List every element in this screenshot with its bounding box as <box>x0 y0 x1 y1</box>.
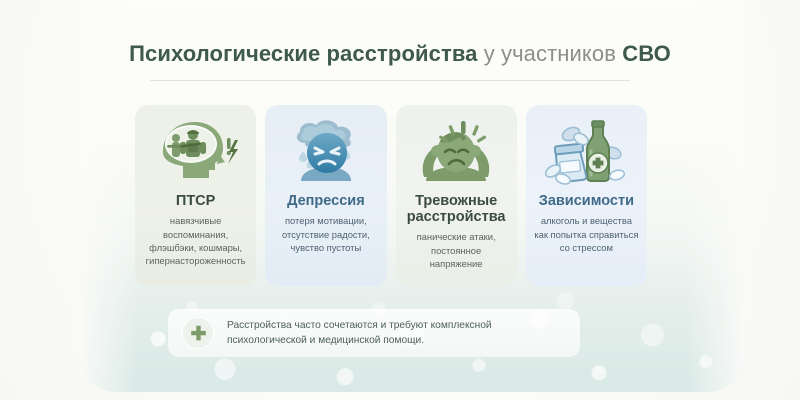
disorder-card-title: Зависимости <box>539 193 634 209</box>
page-title-strong-secondary: СВО <box>622 41 671 66</box>
title-divider <box>150 80 630 81</box>
medical-cross-icon <box>182 317 214 349</box>
stressed-head-hands-icon <box>402 115 511 187</box>
footnote-banner: Расстройства часто сочетаются и требуют … <box>168 309 580 357</box>
disorder-card-description: потеря мотивации, отсутствие радости, чу… <box>271 214 380 254</box>
disorder-card-ptsr[interactable]: ПТСР навязчивые воспоминания, флэшбэки, … <box>135 105 256 286</box>
footnote-text: Расстройства часто сочетаются и требуют … <box>227 318 492 349</box>
disorder-card-list: ПТСР навязчивые воспоминания, флэшбэки, … <box>135 105 647 286</box>
disorder-card-title: Тревожные расстройства <box>407 193 506 225</box>
sad-face-rain-cloud-icon <box>271 115 380 187</box>
disorder-card-description: алкоголь и вещества как попытка справить… <box>532 214 641 254</box>
head-soldier-icon <box>141 115 250 187</box>
disorder-card-depression[interactable]: Депрессия потеря мотивации, отсутствие р… <box>265 105 386 286</box>
disorder-card-description: панические атаки, постоянное напряжение <box>402 230 511 270</box>
disorder-card-title: Депрессия <box>287 193 365 209</box>
disorder-card-title: ПТСР <box>176 193 215 209</box>
disorder-card-anxiety[interactable]: Тревожные расстройства панические атаки,… <box>396 105 517 286</box>
disorder-card-addiction[interactable]: Зависимости алкоголь и вещества как попы… <box>526 105 647 286</box>
bottle-pills-icon <box>532 115 641 187</box>
slide-background: Психологические расстройства у участнико… <box>0 0 800 400</box>
page-title-light: у участников <box>478 41 623 66</box>
page-title-strong-primary: Психологические расстройства <box>129 41 477 66</box>
page-title: Психологические расстройства у участнико… <box>0 42 800 66</box>
disorder-card-description: навязчивые воспоминания, флэшбэки, кошма… <box>141 214 250 267</box>
